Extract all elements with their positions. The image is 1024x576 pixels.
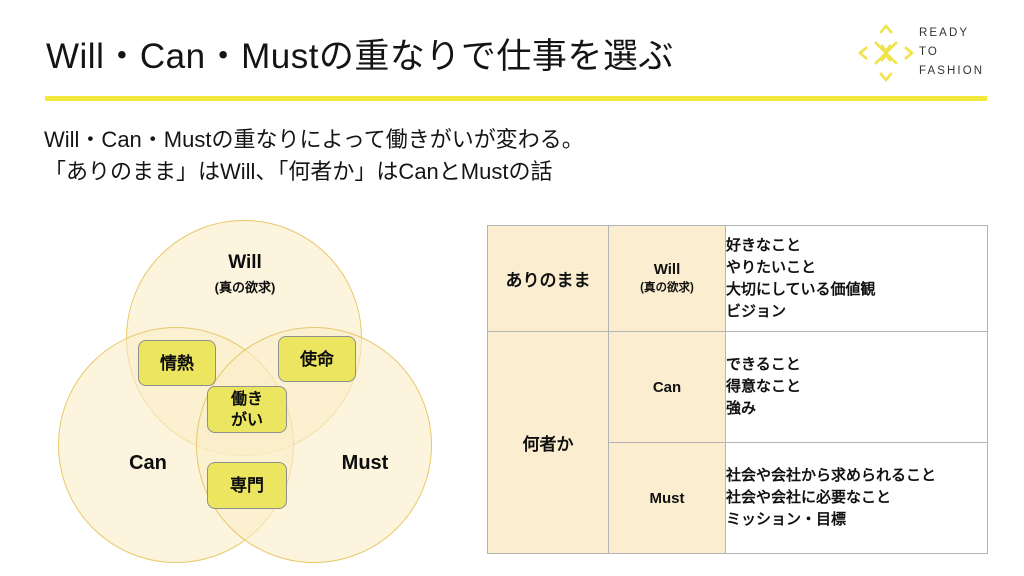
brand-logo: READY TO FASHION [855, 18, 995, 88]
venn-label-will-sub: (真の欲求) [190, 275, 300, 300]
list-item: ビジョン [726, 301, 987, 323]
list-item: 得意なこと [726, 376, 987, 398]
list-item: やりたいこと [726, 257, 987, 279]
subtitle-line-2: 「ありのまま」はWill、「何者か」はCanとMustの話 [44, 156, 584, 188]
subtitle-line-1: Will・Can・Mustの重なりによって働きがいが変わる。 [44, 124, 584, 156]
logo-line-1: READY [919, 24, 984, 43]
logo-line-3: FASHION [919, 62, 984, 81]
list-item: 好きなこと [726, 235, 987, 257]
venn-diagram: Will (真の欲求) Can Must 情熱 使命 働き がい 専門 [40, 215, 460, 565]
list-item: できること [726, 354, 987, 376]
venn-label-will-main: Will [228, 252, 262, 273]
table-row: 何者か Can できること 得意なこと 強み [488, 332, 988, 443]
venn-box-mission: 使命 [278, 336, 356, 382]
will-can-must-table: ありのまま Will (真の欲求) 好きなこと やりたいこと 大切にしている価値… [487, 225, 988, 554]
table-cell-axis-will: Will (真の欲求) [609, 226, 726, 332]
list-item: 強み [726, 398, 987, 420]
venn-box-worth-line-1: 働き [231, 389, 263, 410]
venn-label-can: Can [108, 452, 188, 475]
venn-label-will: Will (真の欲求) [190, 250, 300, 300]
table-cell-items-must: 社会や会社から求められること 社会や会社に必要なこと ミッション・目標 [726, 443, 988, 554]
table-cell-axis-must: Must [609, 443, 726, 554]
venn-box-passion: 情熱 [138, 340, 216, 386]
table-cell-group-nanimonoka: 何者か [488, 332, 609, 554]
list-item: 社会や会社に必要なこと [726, 487, 987, 509]
table-row: ありのまま Will (真の欲求) 好きなこと やりたいこと 大切にしている価値… [488, 226, 988, 332]
title-divider-rule [45, 96, 987, 101]
logo-mark-icon [855, 22, 917, 84]
venn-box-specialty: 専門 [207, 462, 287, 509]
venn-box-worth: 働き がい [207, 386, 287, 433]
table-cell-items-can: できること 得意なこと 強み [726, 332, 988, 443]
table-cell-items-will: 好きなこと やりたいこと 大切にしている価値観 ビジョン [726, 226, 988, 332]
subtitle-block: Will・Can・Mustの重なりによって働きがいが変わる。 「ありのまま」はW… [44, 124, 584, 188]
list-item: 大切にしている価値観 [726, 279, 987, 301]
logo-line-2: TO [919, 43, 984, 62]
table-axis-will-sub: (真の欲求) [609, 279, 725, 298]
table-axis-will-main: Will [654, 261, 681, 278]
list-item: 社会や会社から求められること [726, 465, 987, 487]
venn-label-must: Must [320, 452, 410, 475]
list-item: ミッション・目標 [726, 509, 987, 531]
logo-wordmark: READY TO FASHION [919, 24, 984, 81]
page-title: Will・Can・Mustの重なりで仕事を選ぶ [46, 28, 674, 79]
table-cell-group-arinomama: ありのまま [488, 226, 609, 332]
table-cell-axis-can: Can [609, 332, 726, 443]
venn-box-worth-line-2: がい [231, 410, 263, 431]
